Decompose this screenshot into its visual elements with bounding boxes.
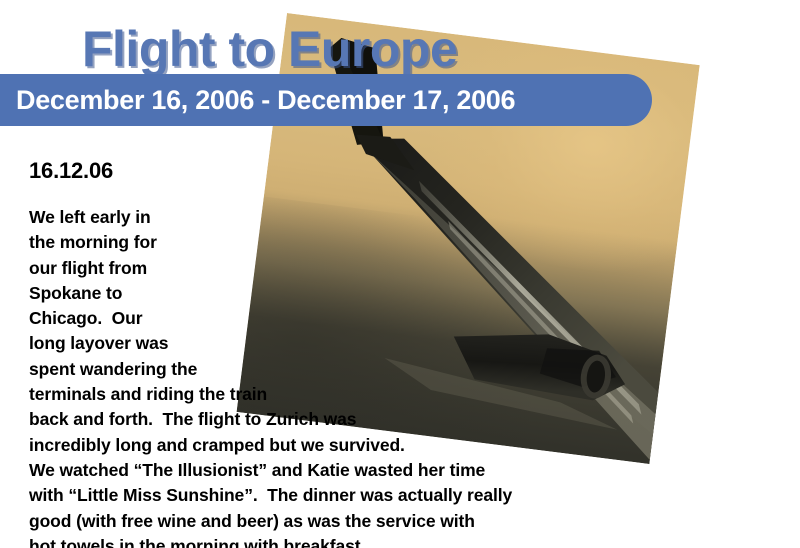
entry-line: terminals and riding the train — [29, 382, 729, 407]
entry-line: We watched “The Illusionist” and Katie w… — [29, 458, 729, 483]
page-title: Flight to Europe — [82, 24, 722, 74]
entry-line: We left early in — [29, 205, 729, 230]
entry-line: good (with free wine and beer) as was th… — [29, 509, 729, 534]
entry-line: our flight from — [29, 256, 729, 281]
entry-line: with “Little Miss Sunshine”. The dinner … — [29, 483, 729, 508]
entry-line: incredibly long and cramped but we survi… — [29, 433, 729, 458]
entry-line: Chicago. Our — [29, 306, 729, 331]
entry-line: back and forth. The flight to Zurich was — [29, 407, 729, 432]
entry-line: spent wandering the — [29, 357, 729, 382]
date-range-label: December 16, 2006 - December 17, 2006 — [16, 84, 515, 116]
entry-line: hot towels in the morning with breakfast… — [29, 534, 729, 548]
date-banner: December 16, 2006 - December 17, 2006 — [0, 74, 652, 126]
entry-line: Spokane to — [29, 281, 729, 306]
scrapbook-page: Flight to Europe December 16, 2006 - Dec… — [0, 0, 800, 548]
entry-line: the morning for — [29, 230, 729, 255]
entry-body: We left early inthe morning forour fligh… — [29, 205, 729, 548]
entry-line: long layover was — [29, 331, 729, 356]
entry-date: 16.12.06 — [29, 158, 113, 184]
